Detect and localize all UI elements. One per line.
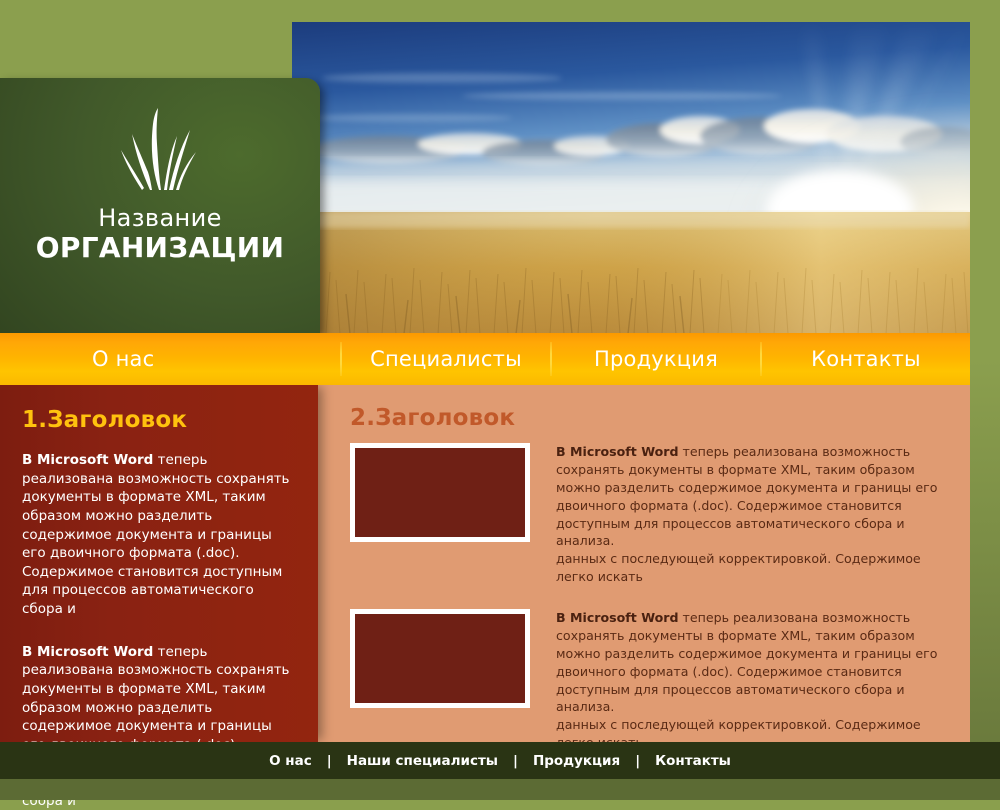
brand-name: Название ОРГАНИЗАЦИИ bbox=[0, 206, 320, 263]
nav-item-specialists[interactable]: Специалисты bbox=[342, 347, 550, 371]
main-navigation: О нас Специалисты Продукция Контакты bbox=[0, 333, 970, 385]
left-column-heading: 1.Заголовок bbox=[22, 407, 298, 433]
left-column: 1.Заголовок В Microsoft Word теперь реал… bbox=[0, 385, 318, 742]
media-text-tail: данных с последующей корректировкой. Сод… bbox=[556, 550, 952, 586]
media-block-text: В Microsoft Word теперь реализована возм… bbox=[556, 443, 952, 586]
media-block: В Microsoft Word теперь реализована возм… bbox=[350, 609, 952, 752]
footer-navigation: О нас | Наши специалисты | Продукция | К… bbox=[0, 742, 1000, 779]
grass-blades-glyph bbox=[112, 106, 208, 192]
left-paragraph-bold-lead: В Microsoft Word bbox=[22, 452, 153, 468]
nav-item-contacts[interactable]: Контакты bbox=[762, 347, 970, 371]
grass-blades-icon bbox=[112, 106, 208, 192]
wheat-field-photo bbox=[292, 22, 970, 334]
logo-panel[interactable]: Название ОРГАНИЗАЦИИ bbox=[0, 78, 320, 333]
content-area: 1.Заголовок В Microsoft Word теперь реал… bbox=[0, 385, 970, 742]
hero-image bbox=[292, 22, 970, 334]
right-column: 2.Заголовок В Microsoft Word теперь реал… bbox=[330, 385, 970, 742]
image-placeholder[interactable] bbox=[350, 443, 530, 542]
footer-separator: | bbox=[500, 753, 531, 769]
footer-link-about[interactable]: О нас bbox=[267, 753, 314, 769]
media-text-body: теперь реализована возможность сохранять… bbox=[556, 610, 937, 714]
media-text-bold-lead: В Microsoft Word bbox=[556, 444, 679, 459]
page-root: Название ОРГАНИЗАЦИИ О нас Специалисты П… bbox=[0, 0, 1000, 800]
footer-separator: | bbox=[622, 753, 653, 769]
brand-name-line1: Название bbox=[0, 206, 320, 231]
image-placeholder[interactable] bbox=[350, 609, 530, 708]
left-paragraph-bold-lead: В Microsoft Word bbox=[22, 644, 153, 660]
footer-link-contacts[interactable]: Контакты bbox=[653, 753, 733, 769]
left-paragraph-body: теперь реализована возможность сохранять… bbox=[22, 452, 290, 617]
footer-separator: | bbox=[314, 753, 345, 769]
footer-link-specialists[interactable]: Наши специалисты bbox=[345, 753, 500, 769]
nav-item-about[interactable]: О нас bbox=[0, 347, 340, 371]
left-column-paragraph: В Microsoft Word теперь реализована возм… bbox=[22, 451, 298, 619]
footer-bottom-strip bbox=[0, 779, 1000, 800]
footer-link-products[interactable]: Продукция bbox=[531, 753, 622, 769]
media-text-bold-lead: В Microsoft Word bbox=[556, 610, 679, 625]
brand-name-line2: ОРГАНИЗАЦИИ bbox=[0, 233, 320, 262]
media-block-text: В Microsoft Word теперь реализована возм… bbox=[556, 609, 952, 752]
media-block: В Microsoft Word теперь реализована возм… bbox=[350, 443, 952, 586]
right-column-heading: 2.Заголовок bbox=[350, 405, 952, 431]
media-text-body: теперь реализована возможность сохранять… bbox=[556, 444, 937, 548]
nav-item-products[interactable]: Продукция bbox=[552, 347, 760, 371]
